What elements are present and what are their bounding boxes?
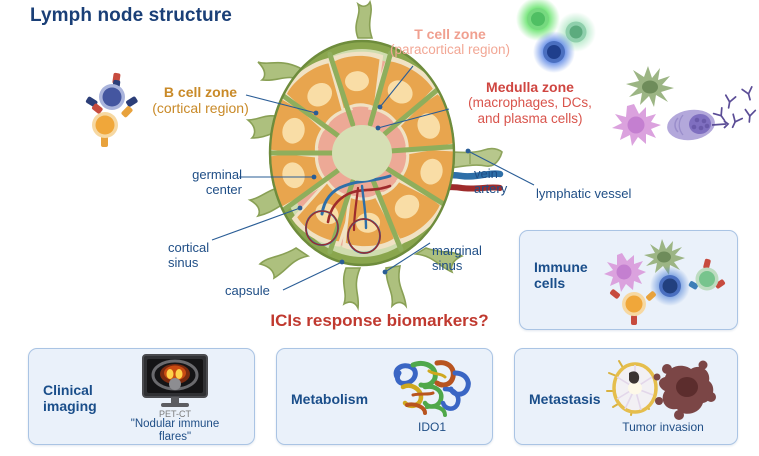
clinical-imaging-line2: imaging (43, 398, 97, 414)
metabolism-caption: IDO1 (377, 421, 487, 434)
metabolism-title: Metabolism (291, 391, 368, 407)
clinical-imaging-caption-line1: "Nodular immune (131, 418, 219, 430)
clinical-imaging-caption-line2: flares" (159, 431, 191, 443)
metabolism-line1: Metabolism (291, 391, 368, 407)
cortical-sinus-line1: cortical (168, 240, 238, 255)
protein-ribbon-icon (389, 359, 475, 419)
germinal-center-line2: center (176, 182, 242, 197)
vein-label: vein artery (474, 166, 507, 196)
clinical-imaging-title: Clinical imaging (43, 382, 115, 414)
clinical-imaging-panel[interactable]: Clinical imaging PET-CT "Nodular immune … (28, 348, 255, 445)
bcell-green-icon (688, 258, 726, 290)
immune-cells-line1: Immune (534, 259, 588, 275)
capsule-line1: capsule (225, 283, 285, 298)
germinal-center-label: germinal center (176, 167, 242, 197)
tumor-cell-icon (607, 357, 717, 423)
lymph-node-figure: Lymph node structure (0, 0, 759, 456)
clinical-imaging-caption: "Nodular immune flares" (101, 418, 249, 444)
clinical-imaging-line1: Clinical (43, 382, 93, 398)
metabolism-panel[interactable]: Metabolism IDO1 (276, 348, 493, 445)
marginal-sinus-line2: sinus (432, 258, 504, 273)
capsule-label: capsule (225, 283, 285, 298)
macrophage-small-icon (604, 253, 646, 292)
marginal-sinus-label: marginal sinus (432, 243, 504, 273)
cortical-sinus-line2: sinus (168, 255, 238, 270)
lymphatic-vessel-label: lymphatic vessel (536, 186, 631, 201)
metastasis-panel[interactable]: Metastasis (514, 348, 738, 445)
metastasis-line1: Metastasis (529, 391, 601, 407)
cortical-sinus-label: cortical sinus (168, 240, 238, 270)
immune-cells-line2: cells (534, 275, 565, 291)
lymph-node-small-icon (607, 361, 656, 415)
immune-cells-title: Immune cells (534, 259, 604, 291)
lymphatic-vessel-text: lymphatic vessel (536, 186, 631, 201)
metastasis-caption: Tumor invasion (601, 421, 725, 434)
icis-heading: ICIs response biomarkers? (0, 311, 759, 331)
tumor-cell-shape (654, 361, 717, 421)
germinal-center-line1: germinal (176, 167, 242, 182)
metastasis-title: Metastasis (529, 391, 601, 407)
vein-text: vein (474, 166, 507, 181)
marginal-sinus-line1: marginal (432, 243, 504, 258)
artery-text: artery (474, 181, 507, 196)
pet-ct-monitor-icon (137, 355, 213, 409)
